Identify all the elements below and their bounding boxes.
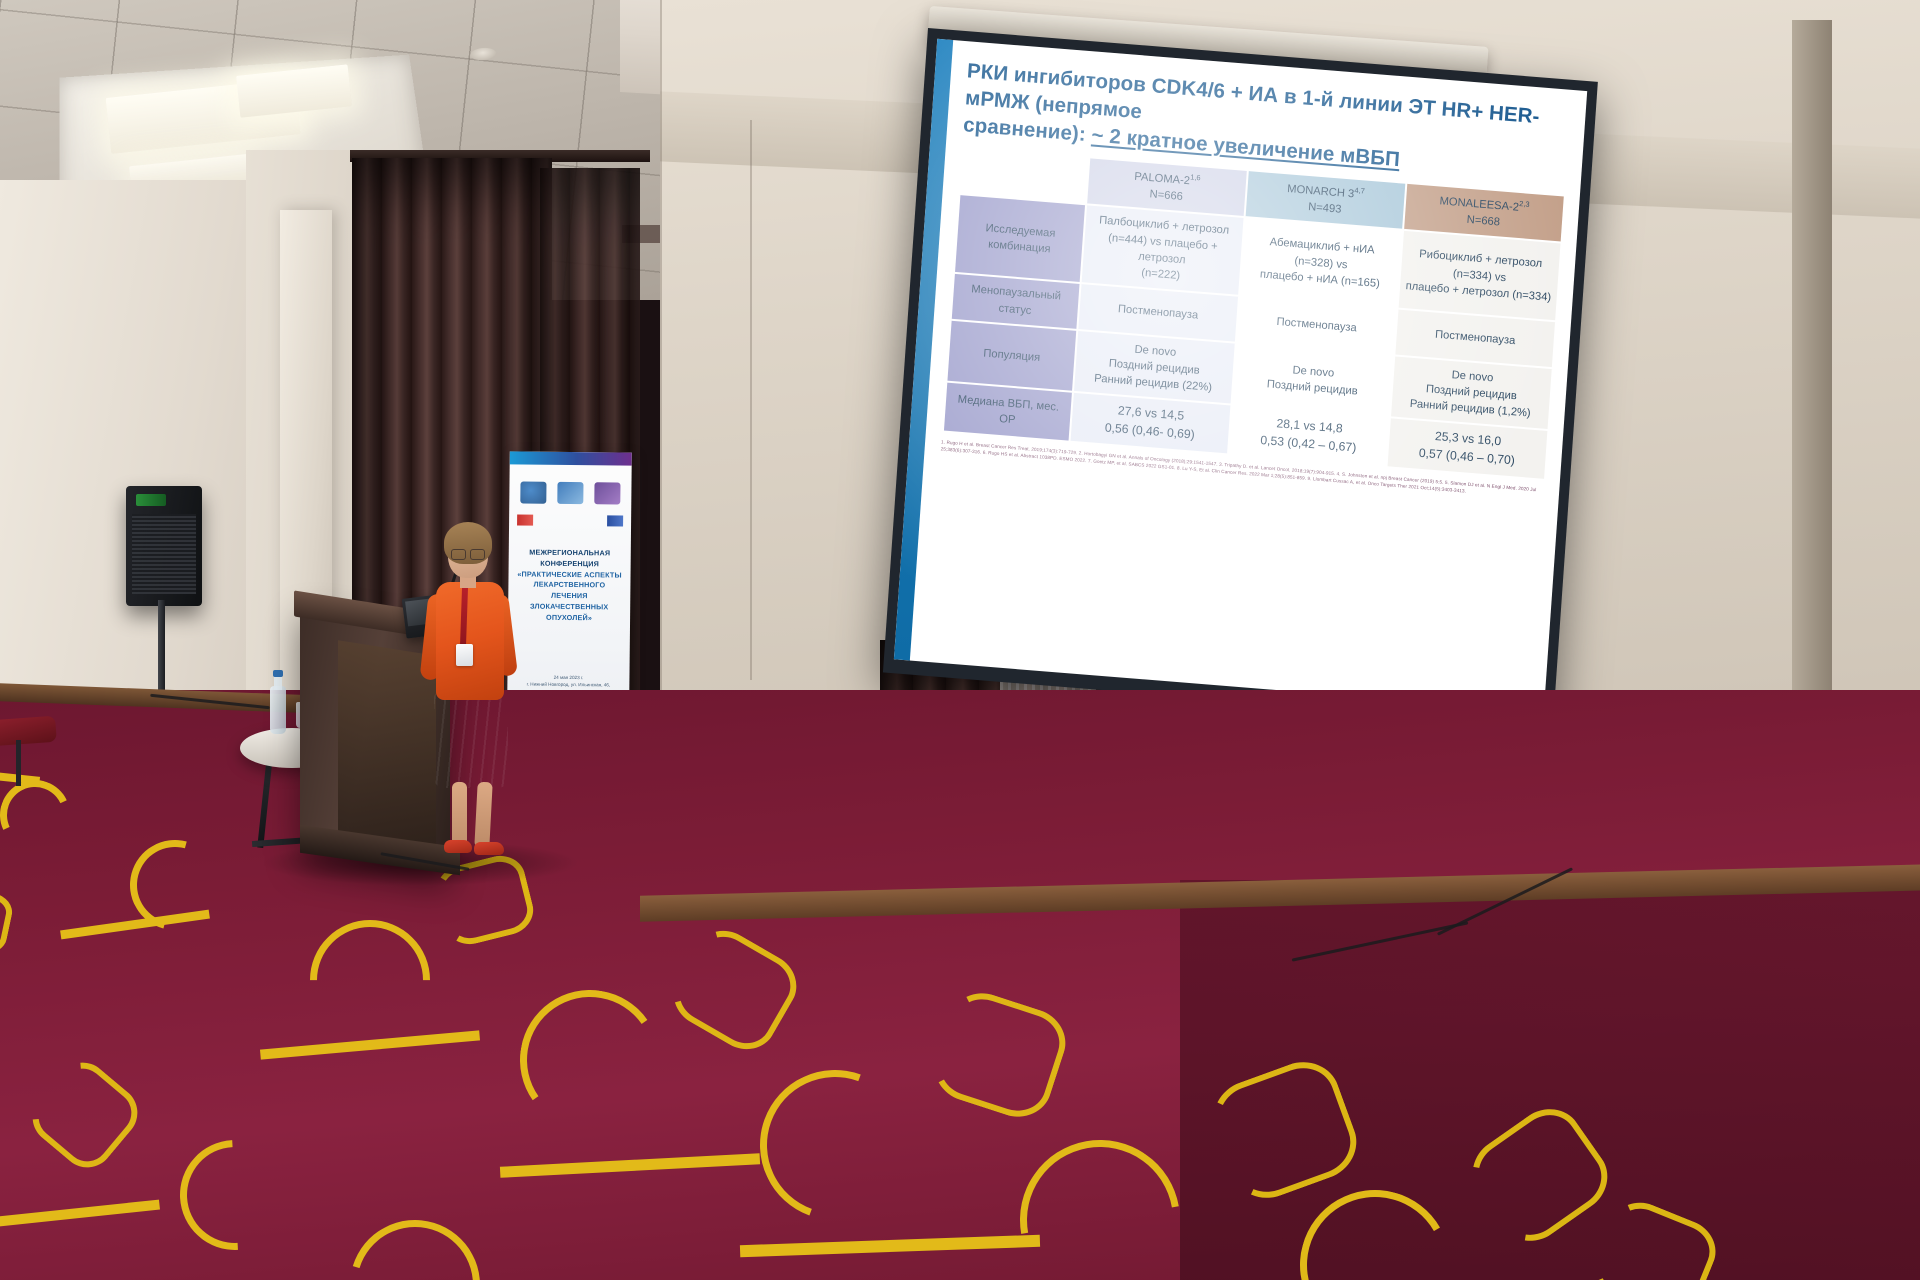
bottle-cap [273, 670, 283, 677]
column-name: PALOMA-2 [1134, 171, 1190, 187]
banner-title-line: МЕЖРЕГИОНАЛЬНАЯ [517, 547, 623, 559]
column-n: N=493 [1308, 201, 1342, 216]
wall-seam [660, 0, 662, 700]
torso-top [436, 582, 504, 700]
column-superscript: 4,7 [1354, 186, 1365, 196]
speaker-grille [132, 514, 196, 594]
column-name: MONALEESA-2 [1439, 195, 1519, 213]
cell-paloma2: Палбоциклиб + летрозол(n=444) vs плацебо… [1080, 205, 1244, 297]
presenter [418, 520, 528, 860]
cell-monaleesa2: Рибоциклиб + летрозол(n=334) vsплацебо +… [1397, 230, 1561, 322]
column-superscript: 1,6 [1190, 173, 1201, 183]
column-n: N=668 [1466, 214, 1500, 229]
right-leg [474, 782, 492, 849]
conference-room-photo: ВЫХОД РКИ ингибиторов CDK4/6 + ИА в 1-й … [0, 0, 1920, 1280]
chair-leg [16, 740, 21, 786]
pa-speaker [126, 486, 202, 606]
banner-title-line: «ПРАКТИЧЕСКИЕ АСПЕКТЫ [516, 569, 622, 581]
projection-screen: РКИ ингибиторов CDK4/6 + ИА в 1-й линии … [883, 28, 1598, 726]
presentation-slide: РКИ ингибиторов CDK4/6 + ИА в 1-й линии … [910, 40, 1587, 711]
slide-title-line-2-prefix: сравнение): [963, 113, 1093, 146]
left-shoe [444, 840, 472, 853]
slide-title-line-1: РКИ ингибиторов CDK4/6 + ИА в 1-й линии … [964, 59, 1540, 128]
carpet-ornament-pattern [0, 740, 1920, 1280]
slide-surface: РКИ ингибиторов CDK4/6 + ИА в 1-й линии … [894, 39, 1587, 712]
name-badge [456, 644, 473, 666]
banner-title-line: ЛЕКАРСТВЕННОГО ЛЕЧЕНИЯ [516, 580, 622, 603]
glasses-icon [451, 549, 485, 558]
banner-title: МЕЖРЕГИОНАЛЬНАЯ КОНФЕРЕНЦИЯ «ПРАКТИЧЕСКИ… [516, 547, 623, 624]
blue-mark-icon [607, 515, 623, 526]
row-label: Исследуемая комбинация [954, 194, 1086, 283]
row-label: Популяция [946, 319, 1077, 392]
sponsor-logo-icon [521, 481, 547, 503]
sponsor-logo-icon [594, 482, 620, 504]
water-bottle [270, 686, 286, 734]
column-n: N=666 [1149, 188, 1183, 203]
right-shoe [474, 842, 504, 855]
speaker-led-icon [136, 494, 166, 506]
wall-seam [750, 120, 752, 680]
row-label: Медиана ВБП, мес.ОР [943, 382, 1073, 441]
chair [0, 716, 57, 747]
banner-logo-row [515, 475, 625, 510]
banner-mark-row [517, 511, 623, 528]
skirt [434, 692, 508, 788]
column-name: MONARCH 3 [1287, 183, 1355, 200]
banner-top-gradient-bar [510, 451, 632, 465]
banner-title-line: ЗЛОКАЧЕСТВЕННЫХ [516, 601, 622, 613]
banner-title-line: ОПУХОЛЕЙ» [516, 612, 622, 624]
sponsor-logo-icon [557, 482, 583, 504]
cell-monarch3: Абемациклиб + нИА(n=328) vsплацебо + нИА… [1239, 217, 1403, 309]
column-superscript: 2,3 [1519, 199, 1530, 209]
left-leg [452, 782, 467, 848]
trial-comparison-table: PALOMA-21,6 N=666 MONARCH 34,7 N=493 MON… [942, 146, 1566, 481]
